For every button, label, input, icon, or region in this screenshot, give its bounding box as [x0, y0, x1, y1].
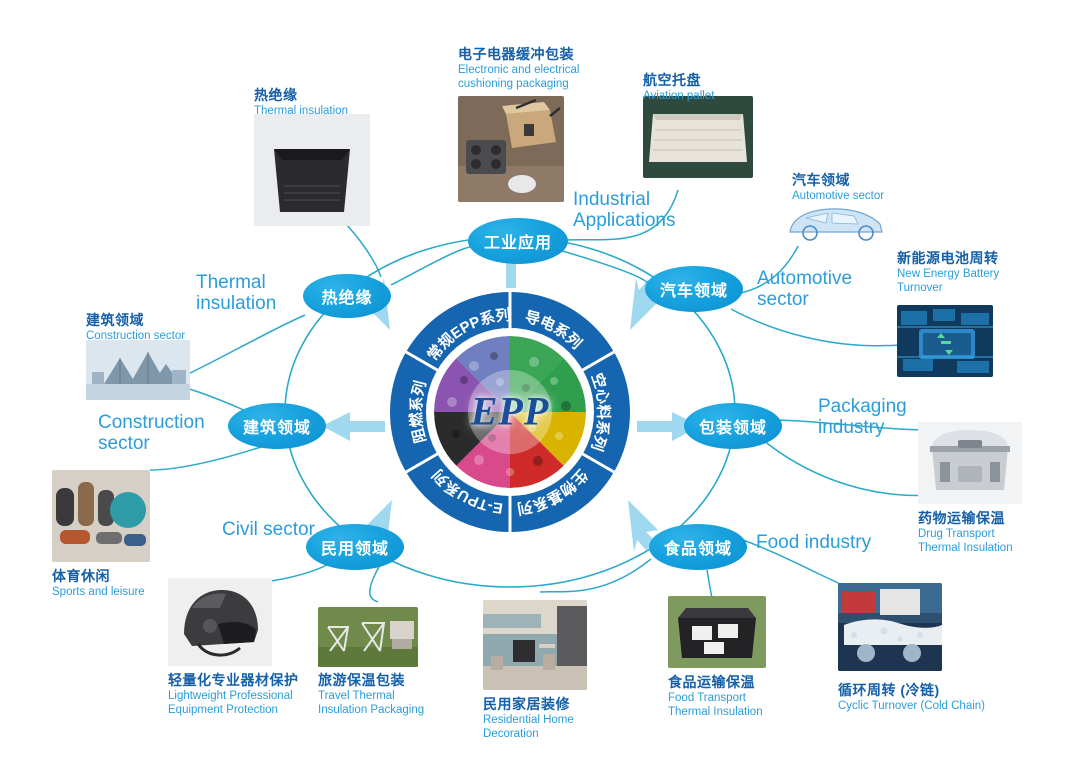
sector-label-thermal: Thermal insulation	[196, 272, 276, 315]
pellet-color-wheel: EPP	[434, 336, 586, 488]
photo-drug-transport	[918, 422, 1022, 504]
photo-cold-chain-truck	[838, 583, 942, 671]
caption-home-decoration: 民用家居装修 Residential Home Decoration	[483, 694, 593, 742]
node-industrial-applications[interactable]: 工业应用	[468, 218, 568, 264]
node-packaging-industry[interactable]: 包装领域	[684, 403, 782, 449]
photo-battery-turnover	[897, 305, 993, 377]
caption-aviation-pallet: 航空托盘 Aviation pallet	[643, 70, 714, 104]
photo-thermal-insulation	[254, 114, 370, 226]
sector-label-civil: Civil sector	[222, 519, 315, 540]
sector-label-automotive: Automotive sector	[757, 268, 852, 311]
node-label-zh: 民用领域	[321, 535, 389, 559]
node-label-zh: 食品领域	[664, 535, 732, 559]
node-label-zh: 建筑领域	[243, 414, 311, 438]
caption-construction: 建筑领域 Construction sector	[86, 310, 185, 344]
caption-travel-packaging: 旅游保温包装 Travel Thermal Insulation Packagi…	[318, 670, 440, 718]
node-label-zh: 热绝缘	[321, 284, 372, 308]
sector-label-industrial: Industrial Applications	[573, 189, 675, 232]
caption-drug-transport: 药物运输保温 Drug Transport Thermal Insulation	[918, 508, 1038, 556]
node-automotive-sector[interactable]: 汽车领域	[645, 266, 743, 312]
infographic-canvas: 常规EPP系列 Standard EPP series 导电系列 Conduct…	[0, 0, 1072, 783]
sector-label-packaging: Packaging industry	[818, 396, 907, 439]
sector-label-construction: Construction sector	[98, 412, 205, 455]
photo-electronic-packaging	[458, 96, 564, 202]
photo-helmet	[168, 578, 272, 666]
caption-thermal-insulation: 热绝缘 Thermal insulation	[254, 85, 348, 119]
node-civil-sector[interactable]: 民用领域	[306, 524, 404, 570]
node-label-zh: 包装领域	[699, 414, 767, 438]
caption-battery-turnover: 新能源电池周转 New Energy Battery Turnover	[897, 248, 1015, 296]
node-thermal-insulation[interactable]: 热绝缘	[303, 274, 391, 318]
node-food-industry[interactable]: 食品领域	[649, 524, 747, 570]
caption-helmet: 轻量化专业器材保护 Lightweight Professional Equip…	[168, 670, 294, 718]
sector-label-food: Food industry	[756, 532, 871, 553]
photo-home-decoration	[483, 600, 587, 690]
node-label-zh: 工业应用	[484, 229, 552, 253]
epp-wordmark: EPP	[471, 388, 550, 435]
epp-center-wheel: 常规EPP系列 Standard EPP series 导电系列 Conduct…	[386, 288, 634, 536]
caption-cold-chain: 循环周转 (冷链) Cyclic Turnover (Cold Chain)	[838, 680, 985, 714]
caption-food-transport: 食品运输保温 Food Transport Thermal Insulation	[668, 672, 788, 720]
photo-sports-leisure	[52, 470, 150, 562]
caption-electronic-packaging: 电子电器缓冲包装 Electronic and electrical cushi…	[458, 44, 583, 92]
caption-automotive: 汽车领域 Automotive sector	[792, 170, 884, 204]
photo-food-transport	[668, 596, 766, 668]
node-label-zh: 汽车领域	[660, 277, 728, 301]
photo-travel-packaging	[318, 607, 418, 667]
caption-sports-leisure: 体育休闲 Sports and leisure	[52, 566, 145, 600]
node-construction-sector[interactable]: 建筑领域	[228, 403, 326, 449]
photo-aviation-pallet	[643, 96, 753, 178]
photo-construction	[86, 340, 190, 400]
